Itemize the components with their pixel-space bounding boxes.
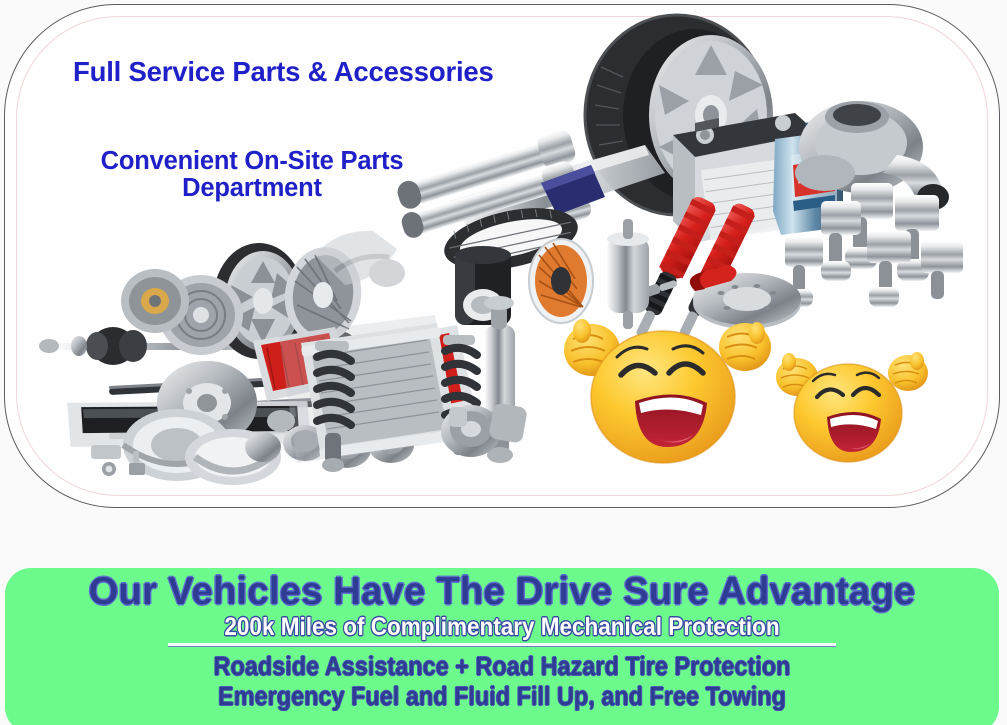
tire-and-alloy-wheel-graphic xyxy=(585,15,773,215)
oil-filters-graphic xyxy=(455,239,593,325)
raised-fist-right-small xyxy=(888,352,928,391)
raised-fist-left-large xyxy=(564,319,620,376)
raised-fist-left-small xyxy=(776,353,818,396)
engine-assembly-graphic xyxy=(315,231,405,287)
brake-discs-graphic xyxy=(123,361,257,481)
red-coilover-shocks-graphic xyxy=(628,194,757,342)
oil-bottle-label-text: MOTOR xyxy=(797,169,843,186)
small-hardware-graphic xyxy=(91,445,145,476)
ac-compressor-graphic xyxy=(441,402,528,457)
serpentine-belt-graphic xyxy=(439,197,584,280)
water-pumps-graphic xyxy=(245,410,414,468)
metal-plate-graphic xyxy=(449,145,665,237)
wiper-blades-graphic xyxy=(109,370,318,440)
hero-card-inner-rule xyxy=(16,16,988,496)
brake-pads-graphic xyxy=(333,366,450,439)
flywheel-graphic xyxy=(121,269,189,333)
hero-card: MOTOR xyxy=(4,4,1000,508)
car-battery-graphic xyxy=(673,113,817,243)
laughing-emoji-large-graphic xyxy=(564,319,771,463)
raised-fist-right-large xyxy=(719,322,771,371)
hero-heading-secondary: Convenient On-Site Parts Department xyxy=(65,148,439,202)
laughing-emoji-small-graphic xyxy=(776,352,928,462)
cv-axle-graphic xyxy=(39,327,385,365)
pistons-and-rods-graphic xyxy=(785,183,963,307)
hero-heading-primary: Full Service Parts & Accessories xyxy=(73,56,494,88)
brake-drum-and-shoes-graphic xyxy=(185,429,281,485)
clutch-pressure-plate-graphic xyxy=(279,242,368,348)
promo-subheadline-underline xyxy=(168,643,836,646)
turbocharger-graphic xyxy=(795,101,949,210)
promo-subheadline: 200k Miles of Complimentary Mechanical P… xyxy=(55,614,950,640)
round-air-filter-graphic xyxy=(529,239,593,323)
promo-banner: Our Vehicles Have The Drive Sure Advanta… xyxy=(5,568,999,725)
brake-rotor-with-caliper-graphic xyxy=(690,265,801,329)
promo-headline: Our Vehicles Have The Drive Sure Advanta… xyxy=(15,572,989,612)
led-light-bar-graphic xyxy=(67,397,312,451)
promo-benefit-line-2: Emergency Fuel and Fluid Fill Up, and Fr… xyxy=(45,683,959,712)
promo-benefit-line-1: Roadside Assistance + Road Hazard Tire P… xyxy=(45,653,959,682)
strut-silver-graphic xyxy=(484,296,515,463)
spark-plug-graphic xyxy=(610,276,679,310)
advertisement-canvas: MOTOR xyxy=(0,0,1007,725)
strut-assemblies-graphic xyxy=(315,296,515,472)
alloy-wheel-left-graphic xyxy=(213,243,305,359)
red-panel-air-filters-graphic xyxy=(253,325,475,429)
aluminum-radiator-graphic xyxy=(279,315,459,463)
clutch-disc-graphic xyxy=(159,275,243,355)
motor-oil-bottle-graphic: MOTOR xyxy=(773,120,843,235)
fuel-filter-graphic xyxy=(607,219,649,329)
